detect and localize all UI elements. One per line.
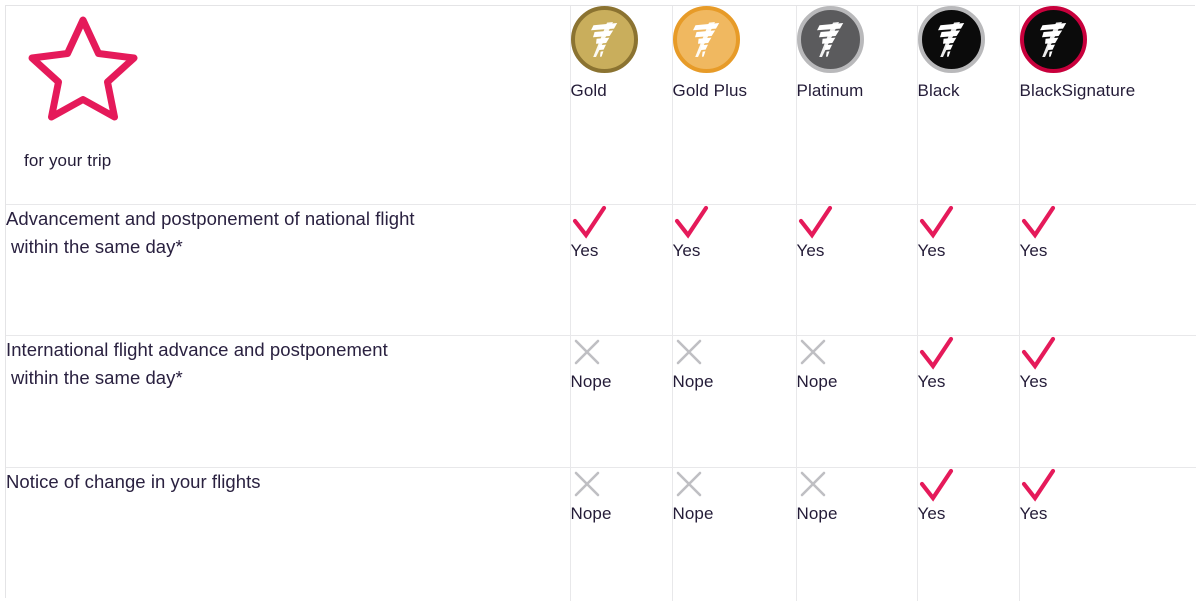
feature-label-line1: Advancement and postponement of national… [6, 205, 570, 233]
feature-value-label: Nope [571, 504, 672, 524]
check-icon [918, 336, 956, 370]
x-icon [571, 468, 603, 500]
tier-badge-icon [797, 6, 864, 73]
table-header-row: for your tripGoldGold PlusPlatinumBlackB… [6, 6, 1196, 205]
table-row: Notice of change in your flightsNopeNope… [6, 468, 1196, 602]
feature-value-cell: Yes [672, 205, 796, 336]
table-body: for your tripGoldGold PlusPlatinumBlackB… [6, 6, 1196, 601]
feature-value-label: Yes [797, 241, 917, 261]
x-icon-wrap [673, 336, 796, 370]
check-icon [571, 205, 609, 239]
tornado-logo-icon [813, 21, 847, 59]
brand-caption: for your trip [24, 151, 570, 171]
feature-label-line1: International flight advance and postpon… [6, 336, 570, 364]
tier-badge-icon [1020, 6, 1087, 73]
benefits-comparison-table: for your tripGoldGold PlusPlatinumBlackB… [5, 5, 1195, 598]
check-icon-wrap [571, 205, 672, 239]
table-row: Advancement and postponement of national… [6, 205, 1196, 336]
x-icon-wrap [571, 336, 672, 370]
feature-value-cell: Nope [672, 336, 796, 468]
tier-header-platinum[interactable]: Platinum [796, 6, 917, 205]
feature-value-label: Yes [918, 504, 1019, 524]
feature-value-cell: Yes [1019, 205, 1196, 336]
tier-name-label: Black [918, 81, 1019, 101]
brand-cell: for your trip [6, 6, 570, 205]
check-icon [1020, 468, 1058, 502]
feature-value-label: Yes [1020, 241, 1197, 261]
check-icon-wrap [1020, 468, 1197, 502]
x-icon [571, 336, 603, 368]
check-icon-wrap [1020, 336, 1197, 370]
x-icon-wrap [797, 336, 917, 370]
tier-name-label: Gold [571, 81, 672, 101]
feature-value-label: Nope [797, 372, 917, 392]
x-icon [797, 468, 829, 500]
feature-label-line2: within the same day* [6, 233, 570, 261]
tier-badge-icon [918, 6, 985, 73]
star-icon [24, 12, 142, 124]
feature-value-label: Nope [673, 372, 796, 392]
feature-value-cell: Yes [1019, 468, 1196, 602]
x-icon [673, 336, 705, 368]
feature-value-cell: Nope [672, 468, 796, 602]
check-icon-wrap [918, 336, 1019, 370]
check-icon-wrap [673, 205, 796, 239]
feature-value-label: Nope [571, 372, 672, 392]
feature-value-label: Yes [1020, 504, 1197, 524]
check-icon [673, 205, 711, 239]
check-icon-wrap [797, 205, 917, 239]
check-icon-wrap [918, 468, 1019, 502]
x-icon-wrap [673, 468, 796, 502]
check-icon [797, 205, 835, 239]
feature-value-label: Yes [673, 241, 796, 261]
tier-header-gold-plus[interactable]: Gold Plus [672, 6, 796, 205]
feature-label-line2: within the same day* [6, 364, 570, 392]
tier-name-label: Platinum [797, 81, 917, 101]
feature-value-cell: Yes [917, 336, 1019, 468]
feature-label-line1: Notice of change in your flights [6, 468, 570, 496]
check-icon [1020, 336, 1058, 370]
tier-name-label: Gold Plus [673, 81, 796, 101]
tier-header-blacksignature[interactable]: BlackSignature [1019, 6, 1196, 205]
x-icon-wrap [571, 468, 672, 502]
check-icon-wrap [918, 205, 1019, 239]
feature-value-cell: Yes [1019, 336, 1196, 468]
feature-value-label: Yes [918, 241, 1019, 261]
feature-value-label: Nope [673, 504, 796, 524]
x-icon [673, 468, 705, 500]
check-icon [918, 468, 956, 502]
feature-value-cell: Nope [796, 336, 917, 468]
tornado-logo-icon [689, 21, 723, 59]
star-icon-wrap [24, 12, 570, 129]
feature-value-cell: Yes [917, 468, 1019, 602]
feature-label-cell: Notice of change in your flights [6, 468, 570, 602]
x-icon [797, 336, 829, 368]
check-icon [1020, 205, 1058, 239]
feature-value-cell: Nope [796, 468, 917, 602]
feature-value-cell: Nope [570, 468, 672, 602]
comparison-table: for your tripGoldGold PlusPlatinumBlackB… [6, 6, 1196, 601]
feature-value-label: Yes [1020, 372, 1197, 392]
feature-label-cell: International flight advance and postpon… [6, 336, 570, 468]
feature-value-label: Nope [797, 504, 917, 524]
check-icon [918, 205, 956, 239]
feature-value-cell: Yes [796, 205, 917, 336]
feature-value-label: Yes [571, 241, 672, 261]
feature-value-cell: Nope [570, 336, 672, 468]
tornado-logo-icon [934, 21, 968, 59]
tier-badge-icon [571, 6, 638, 73]
x-icon-wrap [797, 468, 917, 502]
tornado-logo-icon [587, 21, 621, 59]
table-row: International flight advance and postpon… [6, 336, 1196, 468]
feature-value-cell: Yes [570, 205, 672, 336]
tier-name-label: BlackSignature [1020, 81, 1197, 101]
tier-header-gold[interactable]: Gold [570, 6, 672, 205]
tornado-logo-icon [1036, 21, 1070, 59]
check-icon-wrap [1020, 205, 1197, 239]
feature-value-cell: Yes [917, 205, 1019, 336]
feature-value-label: Yes [918, 372, 1019, 392]
tier-header-black[interactable]: Black [917, 6, 1019, 205]
feature-label-cell: Advancement and postponement of national… [6, 205, 570, 336]
tier-badge-icon [673, 6, 740, 73]
